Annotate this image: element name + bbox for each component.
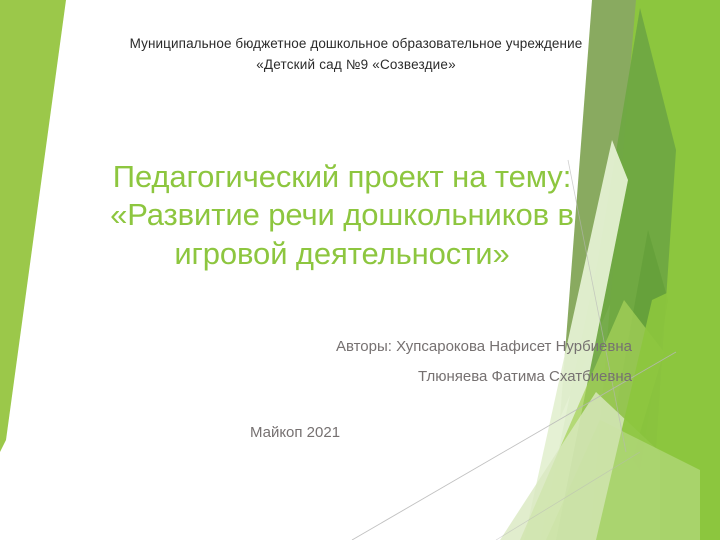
place-and-year: Майкоп 2021 — [180, 424, 410, 441]
organization-line-2: «Детский сад №9 «Созвездие» — [78, 55, 634, 76]
presentation-slide: Муниципальное бюджетное дошкольное образ… — [0, 0, 720, 540]
slide-title-line-3: игровой деятельности» — [42, 235, 642, 273]
author-line-1: Авторы: Хупсарокова Нафисет Нурбиевна — [180, 332, 632, 362]
slide-title-line-1: Педагогический проект на тему: — [42, 158, 642, 196]
author-line-2: Тлюняева Фатима Схатбиевна — [180, 362, 632, 392]
slide-title-line-2: «Развитие речи дошкольников в — [42, 196, 642, 234]
authors-block: Авторы: Хупсарокова Нафисет Нурбиевна Тл… — [180, 332, 632, 392]
slide-text-layer: Муниципальное бюджетное дошкольное образ… — [0, 0, 720, 540]
organization-name: Муниципальное бюджетное дошкольное образ… — [78, 34, 634, 76]
organization-line-1: Муниципальное бюджетное дошкольное образ… — [78, 34, 634, 55]
slide-title: Педагогический проект на тему: «Развитие… — [42, 158, 642, 273]
